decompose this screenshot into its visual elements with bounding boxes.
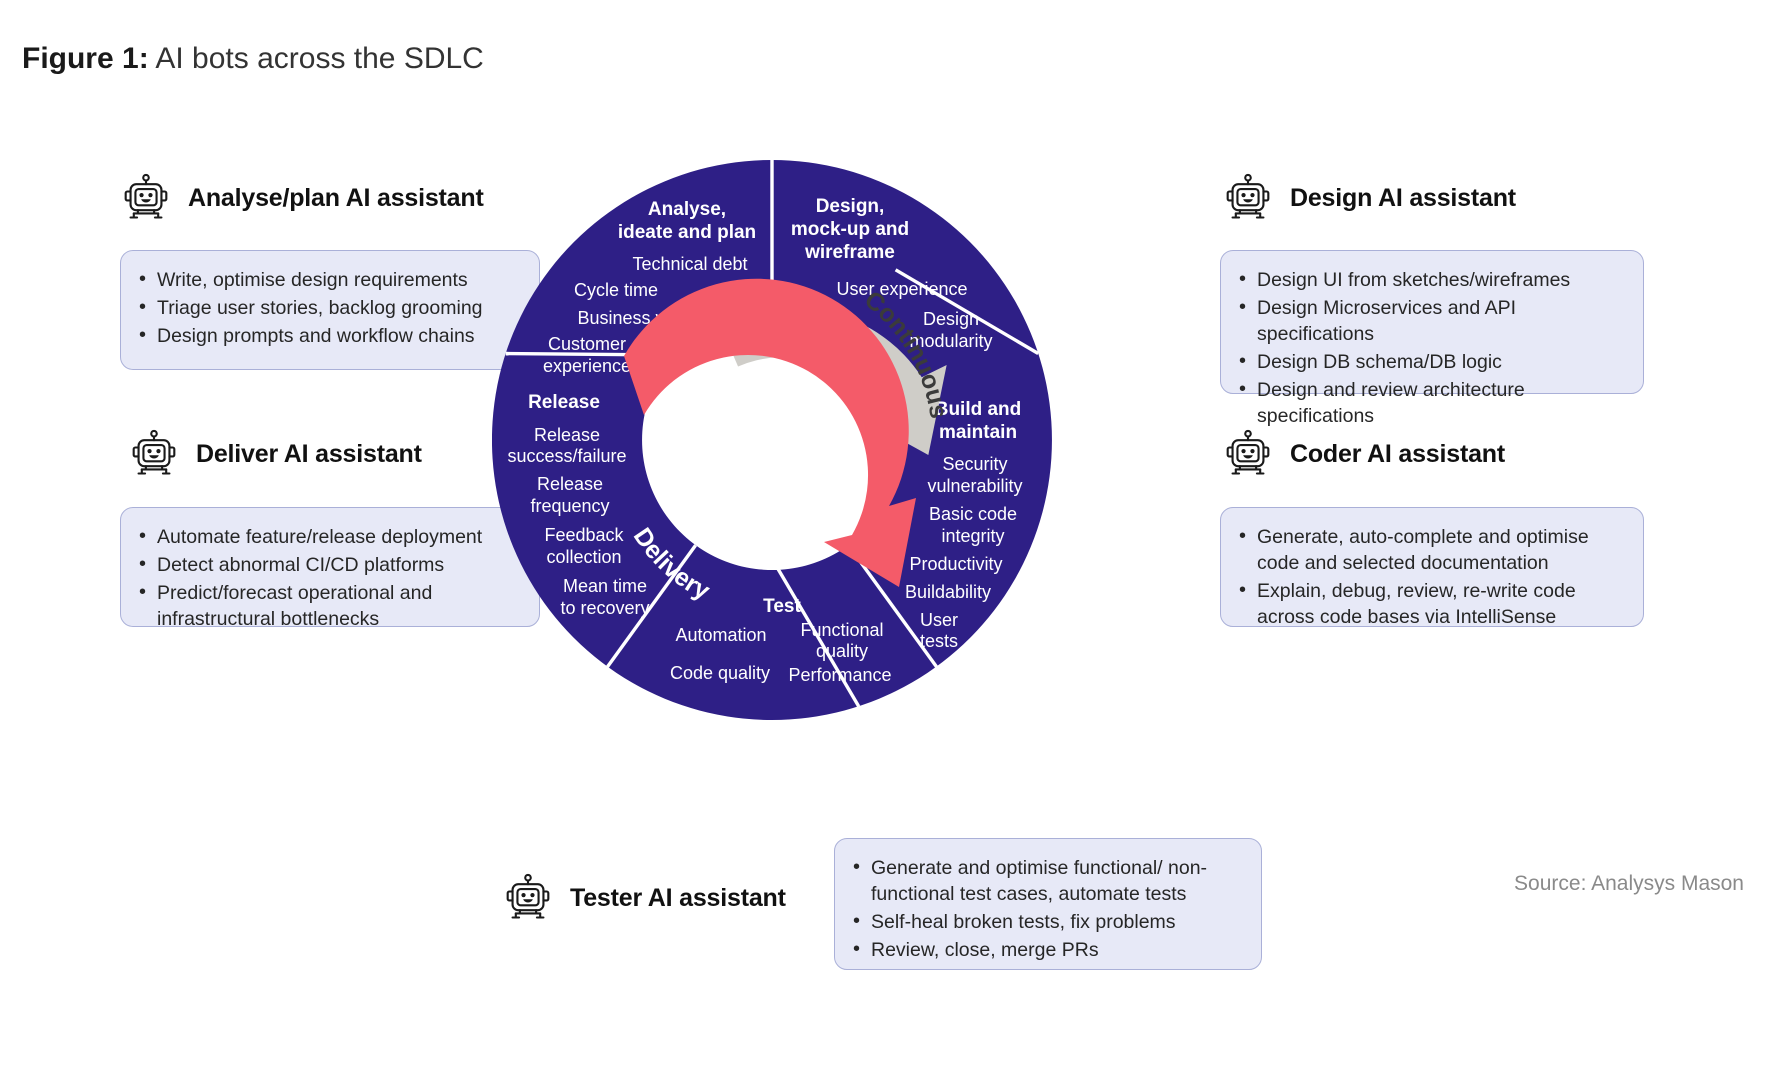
list-item: Write, optimise design requirements: [135, 267, 521, 293]
segment-item: Release: [534, 425, 600, 445]
segment-title-line: wireframe: [804, 242, 895, 263]
assistant-name-deliver: Deliver AI assistant: [196, 440, 422, 469]
segment-item: Basic code: [929, 504, 1017, 524]
segment-title-line: Design,: [816, 196, 885, 217]
list-item: Detect abnormal CI/CD platforms: [135, 552, 521, 578]
page-title: Figure 1: AI bots across the SDLC: [22, 42, 484, 76]
list-item: Triage user stories, backlog grooming: [135, 295, 521, 321]
list-item: Explain, debug, review, re-write code ac…: [1235, 578, 1625, 630]
callout-coder: Generate, auto-complete and optimise cod…: [1220, 507, 1644, 627]
segment-item: User experience: [836, 279, 967, 299]
list-item: Design prompts and workflow chains: [135, 323, 521, 349]
robot-icon: [120, 172, 172, 224]
assistant-heading-design: Design AI assistant: [1222, 172, 1516, 224]
figure-label: Figure 1:: [22, 42, 149, 75]
segment-item: Buildability: [905, 582, 991, 602]
segment-title-line: Analyse,: [648, 199, 726, 220]
segment-item: Cycle time: [574, 280, 658, 300]
segment-item: User: [920, 610, 958, 630]
segment-item: Security: [942, 454, 1007, 474]
assistant-heading-coder: Coder AI assistant: [1222, 428, 1505, 480]
callout-design: Design UI from sketches/wireframes Desig…: [1220, 250, 1644, 394]
list-item: Generate, auto-complete and optimise cod…: [1235, 524, 1625, 576]
segment-item: frequency: [530, 496, 609, 516]
segment-item: success/failure: [507, 446, 626, 466]
assistant-name-design: Design AI assistant: [1290, 184, 1516, 213]
segment-item: tests: [920, 631, 958, 651]
segment-item: Design: [923, 309, 979, 329]
segment-title-line: mock-up and: [791, 219, 909, 240]
segment-item: collection: [546, 547, 621, 567]
segment-title-line: maintain: [939, 422, 1017, 443]
list-item: Design Microservices and API specificati…: [1235, 295, 1625, 347]
callout-deliver: Automate feature/release deployment Dete…: [120, 507, 540, 627]
assistant-heading-tester: Tester AI assistant: [502, 872, 786, 924]
segment-item: integrity: [941, 526, 1004, 546]
callout-analyse-plan: Write, optimise design requirements Tria…: [120, 250, 540, 370]
assistant-name-analyse-plan: Analyse/plan AI assistant: [188, 184, 484, 213]
list-item: Self-heal broken tests, fix problems: [849, 909, 1243, 935]
segment-title-line: ideate and plan: [618, 222, 756, 243]
segment-item: experience: [543, 356, 631, 376]
segment-item: Automation: [675, 625, 766, 645]
segment-item: Customer: [548, 334, 626, 354]
assistant-name-coder: Coder AI assistant: [1290, 440, 1505, 469]
robot-icon: [1222, 428, 1274, 480]
segment-item: Mean time: [563, 576, 647, 596]
source-credit: Source: Analysys Mason: [1514, 872, 1744, 896]
sdlc-donut-chart: Analyse, ideate and plan Technical debt …: [492, 160, 1052, 720]
callout-tester: Generate and optimise functional/ non-fu…: [834, 838, 1262, 970]
robot-icon: [502, 872, 554, 924]
segment-item: Technical debt: [632, 254, 747, 274]
segment-item: Release: [537, 474, 603, 494]
segment-title-line: Release: [528, 392, 600, 413]
segment-item: Functional: [800, 620, 883, 640]
segment-item: Performance: [788, 665, 891, 685]
segment-item: quality: [816, 641, 868, 661]
list-item: Generate and optimise functional/ non-fu…: [849, 855, 1243, 907]
figure-canvas: Figure 1: AI bots across the SDLC Analys…: [0, 0, 1784, 1092]
segment-item: vulnerability: [927, 476, 1022, 496]
robot-icon: [1222, 172, 1274, 224]
segment-item: to recovery: [560, 598, 649, 618]
list-item: Design UI from sketches/wireframes: [1235, 267, 1625, 293]
list-item: Review, close, merge PRs: [849, 937, 1243, 963]
assistant-heading-analyse-plan: Analyse/plan AI assistant: [120, 172, 484, 224]
list-item: Design and review architecture specifica…: [1235, 377, 1625, 429]
list-item: Automate feature/release deployment: [135, 524, 521, 550]
list-item: Predict/forecast operational and infrast…: [135, 580, 521, 632]
assistant-heading-deliver: Deliver AI assistant: [128, 428, 422, 480]
assistant-name-tester: Tester AI assistant: [570, 884, 786, 913]
robot-icon: [128, 428, 180, 480]
segment-item: Code quality: [670, 663, 770, 683]
segment-title-line: Test: [763, 596, 801, 617]
figure-title-text: AI bots across the SDLC: [149, 42, 484, 75]
segment-item: Productivity: [909, 554, 1002, 574]
segment-item: Feedback: [544, 525, 624, 545]
list-item: Design DB schema/DB logic: [1235, 349, 1625, 375]
